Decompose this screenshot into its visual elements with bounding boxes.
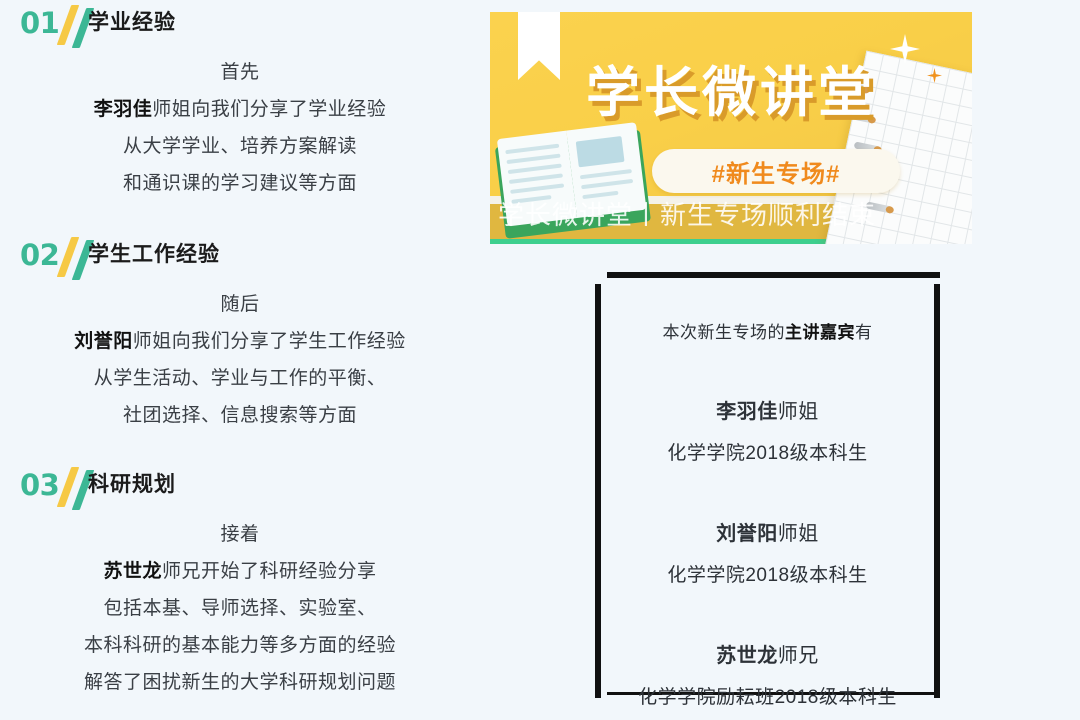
guest-department: 化学学院励耘班2018级本科生 [601,668,934,709]
guest-list-box: 本次新生专场的主讲嘉宾有 李羽佳师姐 化学学院2018级本科生 刘誉阳师姐 化学… [595,272,940,698]
section-body: 接着 苏世龙师兄开始了科研经验分享 包括本基、导师选择、实验室、 本科科研的基本… [0,512,480,701]
bookmark-ribbon-icon [518,12,560,80]
section-academic-experience: 01 学业经验 首先 李羽佳师姐向我们分享了学业经验 从大学学业、培养方案解读 … [0,0,480,202]
box-border-right [934,284,940,698]
event-banner-image: 学长微讲堂 #新生专场# 学长微讲堂丨新生专场顺利结束 [490,12,972,244]
section-research-planning: 03 科研规划 接着 苏世龙师兄开始了科研经验分享 包括本基、导师选择、实验室、… [0,462,480,701]
banner-title: 学长微讲堂 [586,48,876,127]
section-number: 03 [20,468,59,502]
guest-list-content: 本次新生专场的主讲嘉宾有 李羽佳师姐 化学学院2018级本科生 刘誉阳师姐 化学… [601,278,934,692]
section-body: 首先 李羽佳师姐向我们分享了学业经验 从大学学业、培养方案解读 和通识课的学习建… [0,50,480,202]
body-line: 从大学学业、培养方案解读 [0,128,480,165]
body-line: 从学生活动、学业与工作的平衡、 [0,360,480,397]
guest-name: 刘誉阳师姐 [601,465,934,546]
section-number: 02 [20,238,59,272]
body-line: 包括本基、导师选择、实验室、 [0,590,480,627]
banner-caption: 学长微讲堂丨新生专场顺利结束 [498,195,968,232]
body-line: 社团选择、信息搜索等方面 [0,397,480,434]
section-header: 03 科研规划 [0,462,480,512]
body-line: 接着 [0,516,480,553]
section-title: 学生工作经验 [88,238,220,268]
body-line: 解答了困扰新生的大学科研规划问题 [0,664,480,701]
body-line: 和通识课的学习建议等方面 [0,165,480,202]
guest-department: 化学学院2018级本科生 [601,424,934,465]
section-body: 随后 刘誉阳师姐向我们分享了学生工作经验 从学生活动、学业与工作的平衡、 社团选… [0,282,480,434]
section-title: 科研规划 [88,468,176,498]
banner-badge-pill: #新生专场# [652,149,900,193]
guest-name: 苏世龙师兄 [601,587,934,668]
poster-page: 01 学业经验 首先 李羽佳师姐向我们分享了学业经验 从大学学业、培养方案解读 … [0,0,1080,720]
section-header: 02 学生工作经验 [0,232,480,282]
body-line: 本科科研的基本能力等多方面的经验 [0,627,480,664]
body-line: 随后 [0,286,480,323]
left-content-column: 01 学业经验 首先 李羽佳师姐向我们分享了学业经验 从大学学业、培养方案解读 … [0,0,480,720]
body-line: 刘誉阳师姐向我们分享了学生工作经验 [0,323,480,360]
guest-name: 李羽佳师姐 [601,343,934,424]
guest-intro-line: 本次新生专场的主讲嘉宾有 [601,278,934,343]
body-line: 李羽佳师姐向我们分享了学业经验 [0,91,480,128]
banner-badge-text: #新生专场# [652,149,900,193]
section-student-work-experience: 02 学生工作经验 随后 刘誉阳师姐向我们分享了学生工作经验 从学生活动、学业与… [0,232,480,434]
section-header: 01 学业经验 [0,0,480,50]
section-title: 学业经验 [88,6,176,36]
guest-department: 化学学院2018级本科生 [601,546,934,587]
body-line: 首先 [0,54,480,91]
body-line: 苏世龙师兄开始了科研经验分享 [0,553,480,590]
section-number: 01 [20,6,59,40]
